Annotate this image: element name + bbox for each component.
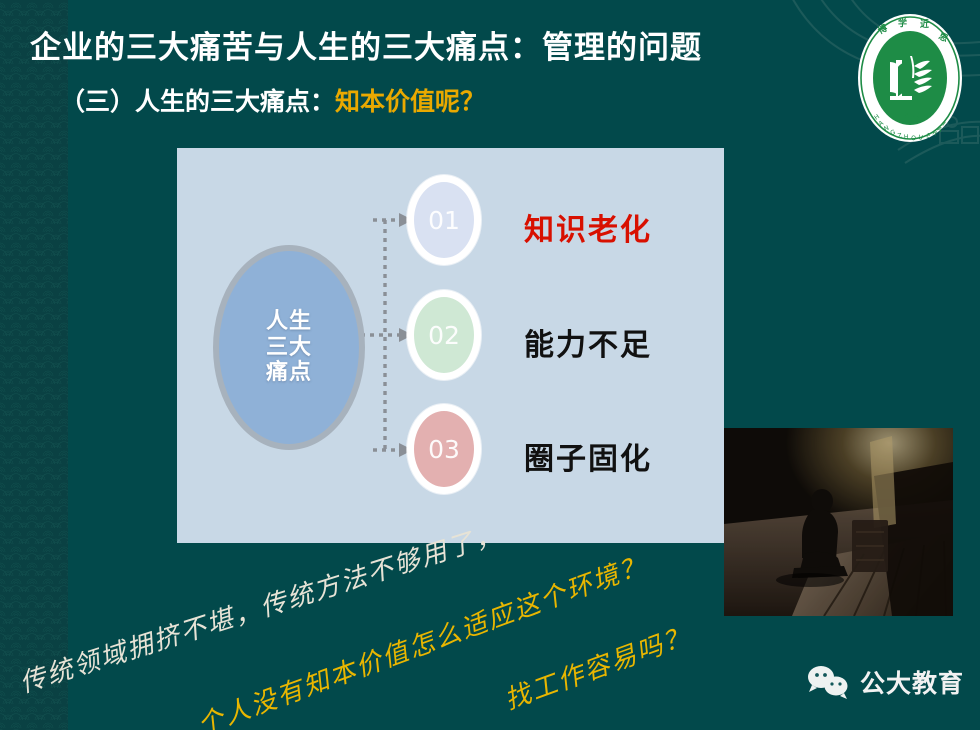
subtitle-plain-text: （三）人生的三大痛点： <box>60 89 335 116</box>
svg-text:近: 近 <box>920 18 929 30</box>
center-label-line-3: 痛点 <box>266 360 312 386</box>
svg-text:O: O <box>911 135 916 142</box>
decorative-wave-pattern-strip <box>0 0 68 730</box>
page-subtitle: （三）人生的三大痛点：知本价值呢？ <box>60 82 485 118</box>
illustration-photo <box>724 428 953 616</box>
center-label-line-2: 三大 <box>266 335 312 361</box>
school-logo: 博 学 近 思 H A N G Z H O U E R A I 1997 <box>852 8 968 148</box>
node-label-03: 圈子固化 <box>524 434 652 478</box>
center-label-line-1: 人生 <box>266 309 312 335</box>
watermark-text: 公大教育 <box>860 664 964 700</box>
node-number-03: 03 <box>428 435 460 464</box>
node-label-02: 能力不足 <box>524 320 652 364</box>
node-circle-01[interactable]: 01 <box>407 175 481 265</box>
svg-text:U: U <box>918 134 924 142</box>
center-ellipse-label: 人生 三大 痛点 <box>266 309 312 387</box>
center-ellipse: 人生 三大 痛点 <box>213 245 365 450</box>
node-circle-03[interactable]: 03 <box>407 404 481 494</box>
page-title: 企业的三大痛苦与人生的三大痛点：管理的问题 <box>30 22 702 67</box>
diagram-panel: 人生 三大 痛点 01 02 03 知识老化 能力不足 圈子固化 <box>177 148 724 543</box>
subtitle-accent-text: 知本价值呢？ <box>335 89 485 116</box>
logo-year: 1997 <box>899 111 921 120</box>
diagonal-text-3: 找工作容易吗？ <box>499 615 696 717</box>
presentation-slide: 企业的三大痛苦与人生的三大痛点：管理的问题 （三）人生的三大痛点：知本价值呢？ … <box>0 0 980 730</box>
node-number-01: 01 <box>428 206 460 235</box>
node-label-01: 知识老化 <box>524 205 652 249</box>
svg-text:学: 学 <box>898 17 907 29</box>
wechat-watermark: 公大教育 <box>806 664 964 700</box>
node-circle-02[interactable]: 02 <box>407 290 481 380</box>
svg-text:H: H <box>904 134 909 141</box>
node-number-02: 02 <box>428 321 460 350</box>
wechat-icon <box>806 665 850 699</box>
